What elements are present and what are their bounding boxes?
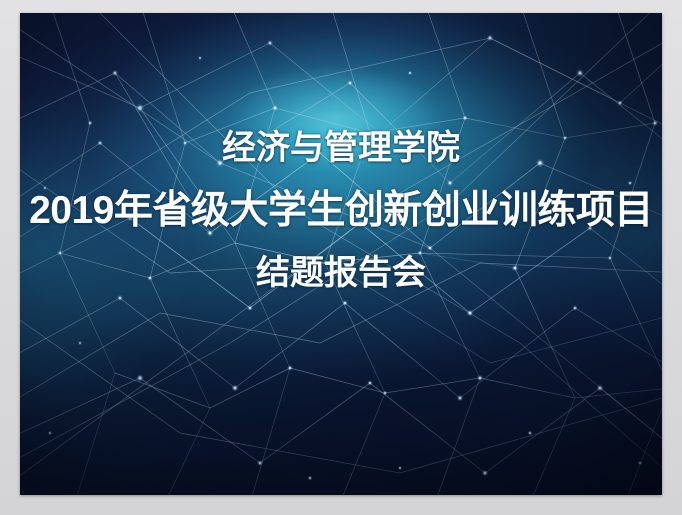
background-vignette: [20, 13, 662, 495]
slide-background-image: 经济与管理学院 2019年省级大学生创新创业训练项目 结题报告会: [20, 13, 662, 495]
slide-frame: 经济与管理学院 2019年省级大学生创新创业训练项目 结题报告会: [0, 0, 682, 515]
